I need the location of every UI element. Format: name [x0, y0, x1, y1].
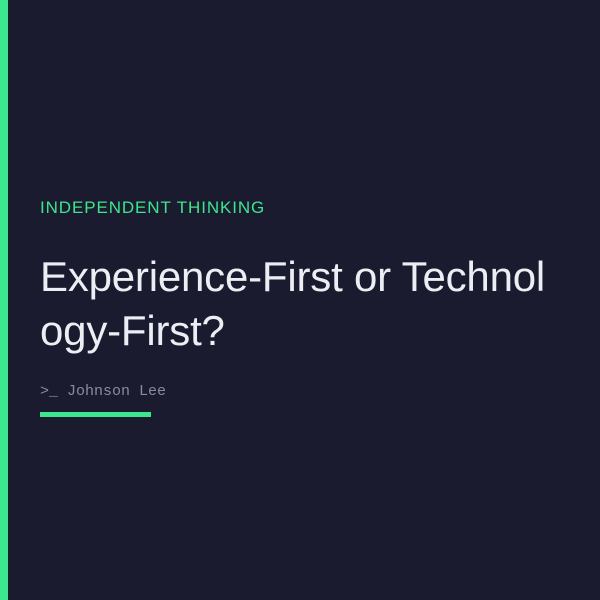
left-accent-bar — [0, 0, 8, 600]
card-byline: >_ Johnson Lee — [40, 382, 166, 402]
card-headline: Experience-First or Technology-First? — [40, 250, 562, 358]
byline-underline-accent — [40, 412, 151, 417]
card-content: INDEPENDENT THINKING Experience-First or… — [40, 0, 570, 600]
quote-card: INDEPENDENT THINKING Experience-First or… — [0, 0, 600, 600]
card-eyebrow-label: INDEPENDENT THINKING — [40, 197, 265, 219]
